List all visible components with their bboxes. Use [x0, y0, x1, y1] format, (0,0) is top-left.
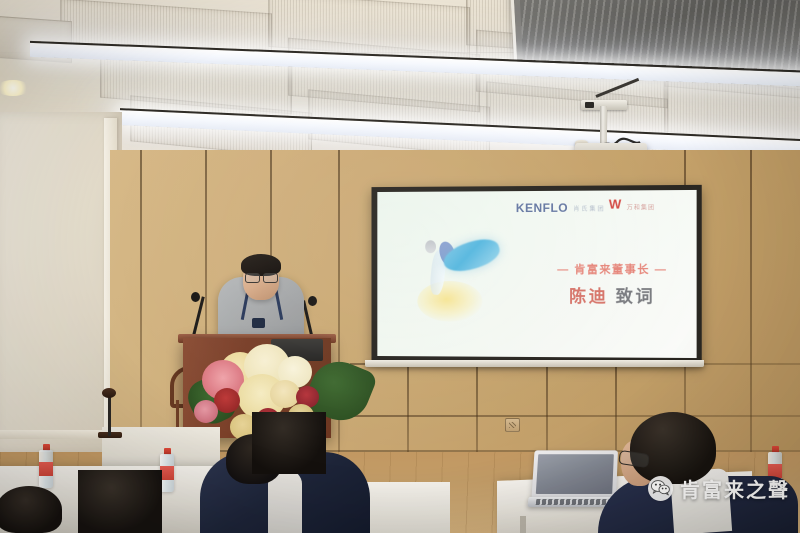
- partner-logo-text: 万和集团: [627, 203, 655, 212]
- bottle-label: [39, 462, 53, 476]
- table-leg: [520, 516, 526, 533]
- projection-screen-bottom-bar: [365, 360, 704, 367]
- speaker-glasses-icon: [245, 273, 278, 281]
- watermark: 肯富来之聲: [648, 473, 790, 503]
- slide-art-blue-body: [440, 234, 502, 276]
- wall-socket[interactable]: [505, 418, 520, 432]
- projection-screen-surface: KENFLO 肖氏集团 W 万和集团 — 肯富来董事长 — 陈迪 致词: [377, 190, 696, 358]
- slide-art-yellow-glow: [417, 281, 483, 322]
- watermark-text: 肯富来之聲: [680, 474, 790, 503]
- slide-artwork: [415, 227, 542, 330]
- flower-bloom: [194, 400, 218, 423]
- slide-speaker-line: 陈迪 致词: [535, 282, 690, 307]
- microphone-stand-rod: [108, 396, 111, 436]
- audience-head: [78, 470, 162, 533]
- kenflo-logo: KENFLO: [516, 201, 568, 215]
- downlight: [0, 80, 30, 96]
- conference-room-photo: KENFLO 肖氏集团 W 万和集团 — 肯富来董事长 — 陈迪 致词: [0, 0, 800, 533]
- slide-art-gray-shape: [425, 240, 436, 253]
- projection-screen: KENFLO 肖氏集团 W 万和集团 — 肯富来董事长 — 陈迪 致词: [371, 185, 701, 364]
- wechat-icon: [648, 476, 673, 501]
- slide-speaker-action: 致词: [616, 287, 656, 306]
- slide-headline: — 肯富来董事长 —: [535, 261, 690, 277]
- bottle-label: [160, 466, 174, 480]
- kenflo-logo-subtext: 肖氏集团: [573, 204, 605, 213]
- podium-microphone-head: [308, 296, 317, 306]
- laptop-display: [536, 454, 614, 494]
- audience-head: [252, 412, 326, 474]
- podium-microphone-head: [191, 292, 200, 302]
- speaker-badge: [252, 318, 265, 328]
- microphone-stand-head: [102, 388, 116, 398]
- audience-head: [0, 486, 62, 533]
- left-wall-baseboard: [0, 430, 112, 439]
- laptop-keyboard[interactable]: [536, 499, 617, 505]
- slide-speaker-name: 陈迪: [569, 287, 608, 306]
- partner-logo-mark: W: [609, 199, 623, 211]
- laptop-screen[interactable]: [531, 450, 618, 499]
